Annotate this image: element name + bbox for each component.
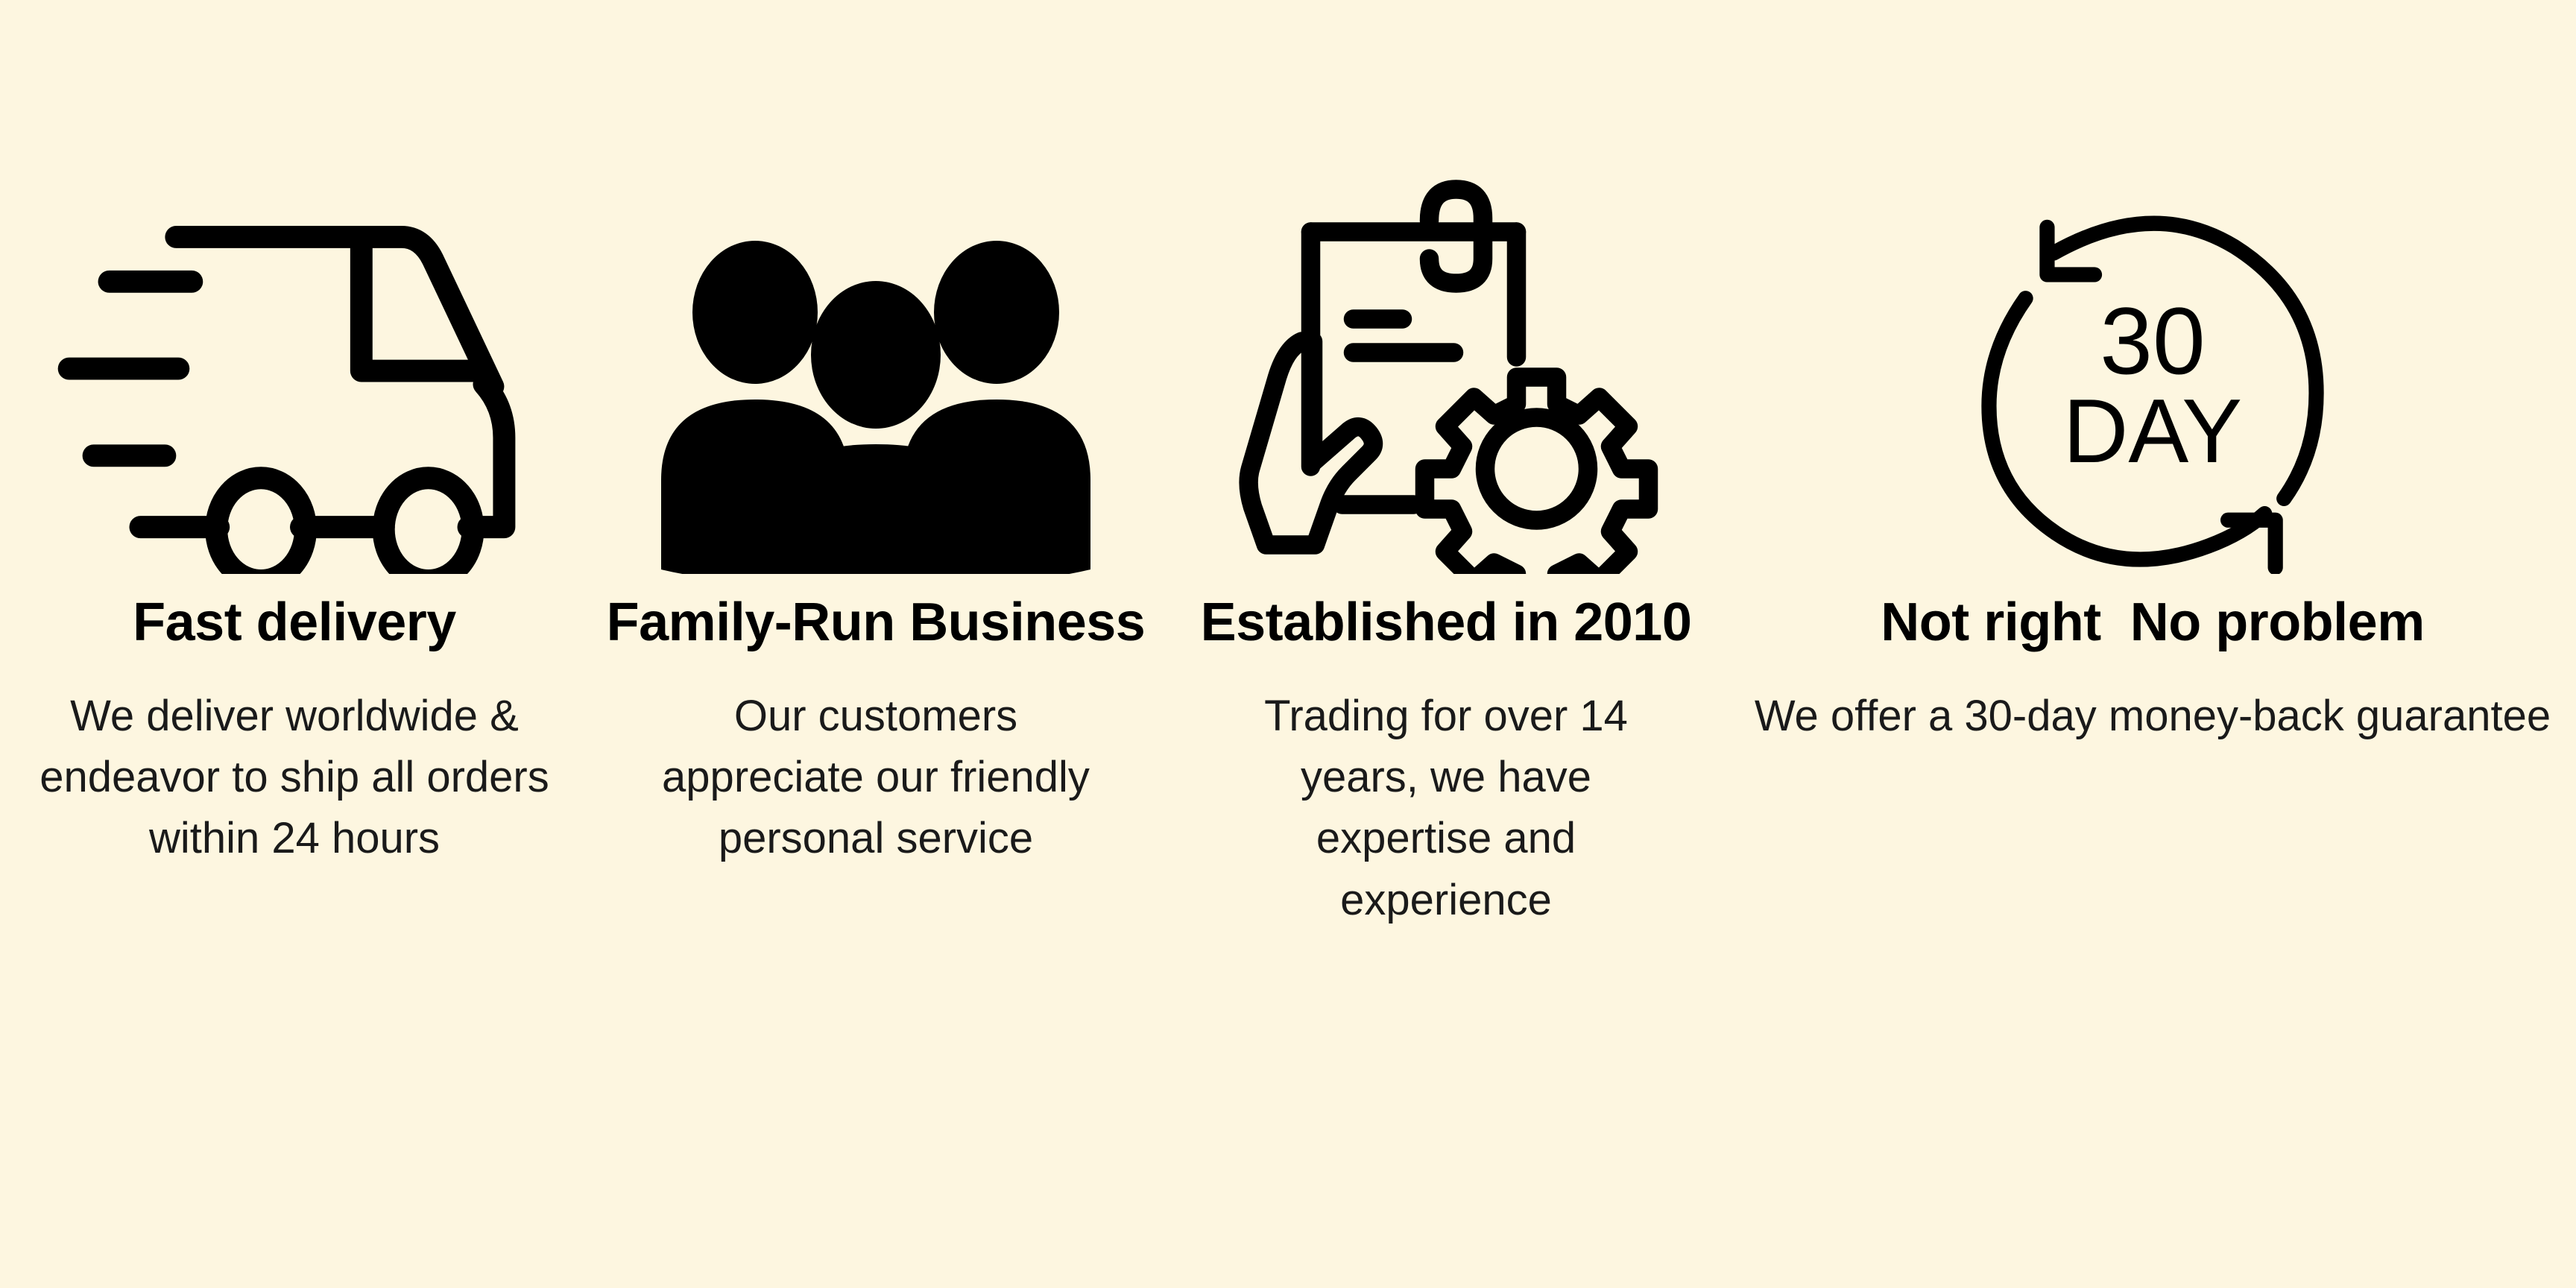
people-group-icon — [589, 127, 1163, 574]
feature-description: Our customers appreciate our friendly pe… — [645, 686, 1107, 870]
feature-title: Family-Run Business — [607, 595, 1146, 651]
feature-description: We offer a 30-day money-back guarantee — [1750, 686, 2555, 747]
feature-item-family-run-business: Family-Run Business Our customers apprec… — [589, 127, 1163, 870]
icon-text-day: DAY — [2063, 380, 2242, 482]
feature-title: Not right No problem — [1881, 595, 2424, 651]
feature-item-established-2010: Established in 2010 Trading for over 14 … — [1163, 127, 1729, 931]
fast-delivery-truck-icon — [0, 127, 589, 574]
icon-text-30: 30 — [2100, 288, 2205, 394]
feature-list: Fast delivery We deliver worldwide & end… — [0, 0, 2576, 931]
feature-description: Trading for over 14 years, we have exper… — [1207, 686, 1685, 931]
certificate-hand-gear-icon — [1163, 127, 1729, 574]
feature-item-money-back-guarantee: 30 DAY Not right No problem We offer a 3… — [1729, 127, 2576, 747]
trust-badges-banner: Fast delivery We deliver worldwide & end… — [0, 0, 2576, 1288]
feature-title: Established in 2010 — [1201, 595, 1692, 651]
thirty-day-return-icon: 30 DAY — [1729, 127, 2576, 574]
feature-description: We deliver worldwide & endeavor to ship … — [0, 686, 589, 870]
feature-title: Fast delivery — [133, 595, 456, 651]
feature-item-fast-delivery: Fast delivery We deliver worldwide & end… — [0, 127, 589, 870]
